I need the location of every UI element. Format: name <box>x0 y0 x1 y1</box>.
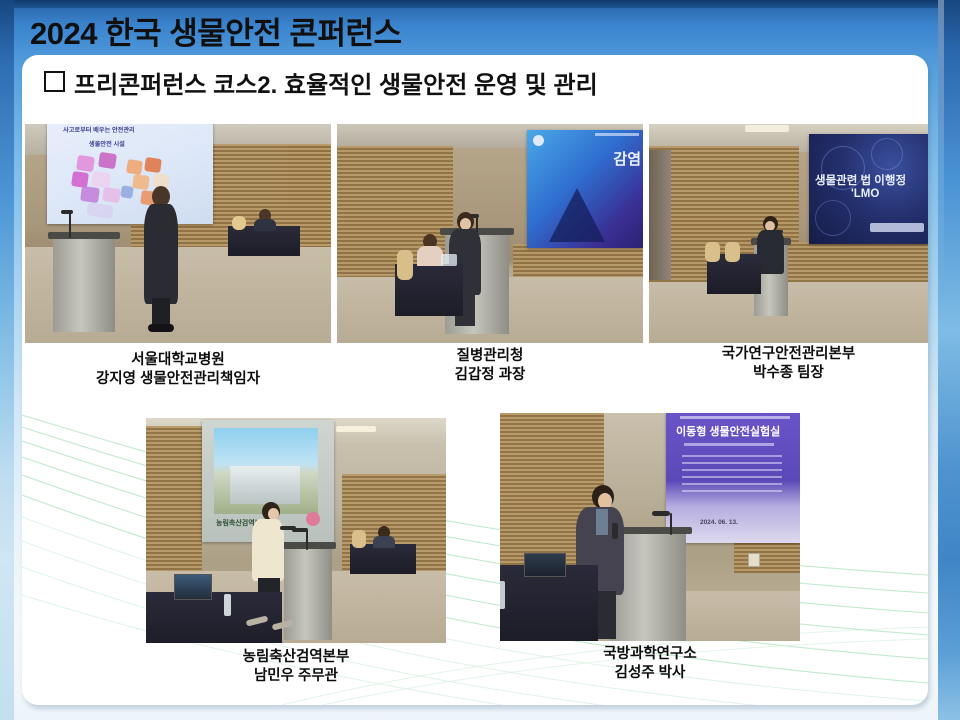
photo-4: 농림축산검역본부 <box>146 418 446 643</box>
room-floor <box>649 282 928 343</box>
photo-5-speaker: 김성주 박사 <box>500 664 800 683</box>
wall-outlet <box>748 553 760 567</box>
slide-hex-5 <box>80 186 100 203</box>
content-panel: 프리콘퍼런스 코스2. 효율적인 생물안전 운영 및 관리 사고로부터 배우는 … <box>22 55 928 705</box>
left-edge-gradient <box>0 0 14 720</box>
moderator-chair <box>352 530 366 548</box>
laptop <box>524 553 566 577</box>
moderator-body <box>373 536 395 548</box>
podium-mic-head <box>652 511 670 516</box>
photo-5-caption: 국방과학연구소 김성주 박사 <box>500 645 800 683</box>
water-bottle <box>224 594 231 616</box>
photo-1-caption: 서울대학교병원 강지영 생물안전관리책임자 <box>25 351 331 389</box>
projection-screen: 생물관련 법 이행정 'LMO <box>809 134 928 244</box>
moderator-chair <box>232 216 246 230</box>
screen-logo <box>533 135 544 146</box>
photo-3-speaker: 박수종 팀장 <box>649 364 928 383</box>
podium-microphone <box>306 530 308 550</box>
projection-screen: 사고로부터 배우는 안전관리 생물안전 시설 <box>47 124 213 224</box>
podium-mic-head <box>61 210 73 214</box>
ceiling-light <box>336 426 376 432</box>
photo-4-org: 농림축산검역본부 <box>146 648 446 667</box>
photo-2: 감염 <box>337 124 643 343</box>
projection-screen: 이동형 생물안전실험실 2024. 06. 13. <box>666 413 800 543</box>
photo-2-caption: 질병관리청 김갑정 과장 <box>337 347 643 385</box>
handheld-microphone <box>280 526 296 530</box>
slide-heading-line1: 이동형 생물안전실험실 <box>676 423 780 439</box>
photo-2-org: 질병관리청 <box>337 347 643 366</box>
chair-2 <box>725 242 740 262</box>
slide-heading-line1: 생물관련 법 이행정 <box>815 172 906 188</box>
screen-building-graphic <box>549 188 605 242</box>
handheld-microphone <box>171 212 176 225</box>
speaker-body <box>757 230 784 274</box>
screen-top-caption <box>680 416 790 419</box>
moderator-table <box>350 544 416 574</box>
photo-1-org: 서울대학교병원 <box>25 351 331 370</box>
photo-2-speaker: 김갑정 과장 <box>337 366 643 385</box>
photo-3-org: 국가연구안전관리본부 <box>649 345 928 364</box>
screen-ring-3 <box>815 200 851 236</box>
slide-hex-13 <box>86 202 114 218</box>
photo-3-caption: 국가연구안전관리본부 박수종 팀장 <box>649 345 928 383</box>
screen-top-caption <box>595 133 639 136</box>
slide-hex-2 <box>98 152 117 169</box>
photo-3: 생물관련 법 이행정 'LMO <box>649 124 928 343</box>
slide-heading-line2: 생물안전 시설 <box>89 139 125 148</box>
screen-logo-dot <box>306 512 320 526</box>
slide-heading-line1: 감염 <box>613 148 641 169</box>
photo-1-speaker: 강지영 생물안전관리책임자 <box>25 370 331 389</box>
slide-heading-line2: 'LMO <box>851 188 879 200</box>
photo-1: 사고로부터 배우는 안전관리 생물안전 시설 <box>25 124 331 343</box>
slide-hex-4 <box>91 171 111 188</box>
photo-5: 이동형 생물안전실험실 2024. 06. 13. <box>500 413 800 641</box>
top-accent-bar <box>0 0 960 8</box>
slide-root: 2024 한국 생물안전 콘퍼런스 <box>0 0 960 720</box>
slide-heading-line1: 사고로부터 배우는 안전관리 <box>63 125 135 134</box>
podium-microphone <box>69 212 71 238</box>
podium <box>53 238 115 332</box>
photo-4-caption: 농림축산검역본부 남민우 주무관 <box>146 648 446 686</box>
slide-hex-8 <box>144 157 162 173</box>
bullet-square-icon <box>44 71 65 92</box>
screen-body-text <box>682 455 782 497</box>
section-subtitle-text: 프리콘퍼런스 코스2. 효율적인 생물안전 운영 및 관리 <box>74 72 598 99</box>
slide-hex-7 <box>126 159 143 175</box>
screen-building-block <box>230 466 300 504</box>
speaker-shirt <box>596 509 608 535</box>
screen-ring-2 <box>871 138 903 170</box>
speaker-person <box>143 186 185 334</box>
moderator-body <box>254 219 276 231</box>
wood-wall-panel-lower <box>799 242 928 286</box>
slide-hex-6 <box>102 187 121 203</box>
speaker-shoes <box>148 324 174 332</box>
moderator-body <box>417 246 443 266</box>
moderator-chair <box>397 250 413 280</box>
page-title: 2024 한국 생물안전 콘퍼런스 <box>30 8 402 53</box>
screen-footer-logo <box>870 223 924 232</box>
water-bottles <box>441 254 457 266</box>
slide-hex-1 <box>76 155 95 172</box>
screen-subtitle-line <box>684 443 774 446</box>
laptop <box>174 574 212 600</box>
water-bottle <box>500 581 505 609</box>
chair-1 <box>705 242 720 262</box>
handheld-microphone <box>612 523 618 539</box>
photo-5-org: 국방과학연구소 <box>500 645 800 664</box>
door <box>649 150 671 280</box>
projection-screen: 감염 <box>527 130 643 248</box>
section-subtitle: 프리콘퍼런스 코스2. 효율적인 생물안전 운영 및 관리 <box>44 65 598 100</box>
podium-microphone <box>670 513 672 535</box>
slide-date: 2024. 06. 13. <box>700 519 738 526</box>
right-edge-gradient <box>938 0 960 720</box>
photo-4-speaker: 남민우 주무관 <box>146 667 446 686</box>
ceiling-light <box>745 125 789 132</box>
slide-hex-12 <box>120 185 134 199</box>
